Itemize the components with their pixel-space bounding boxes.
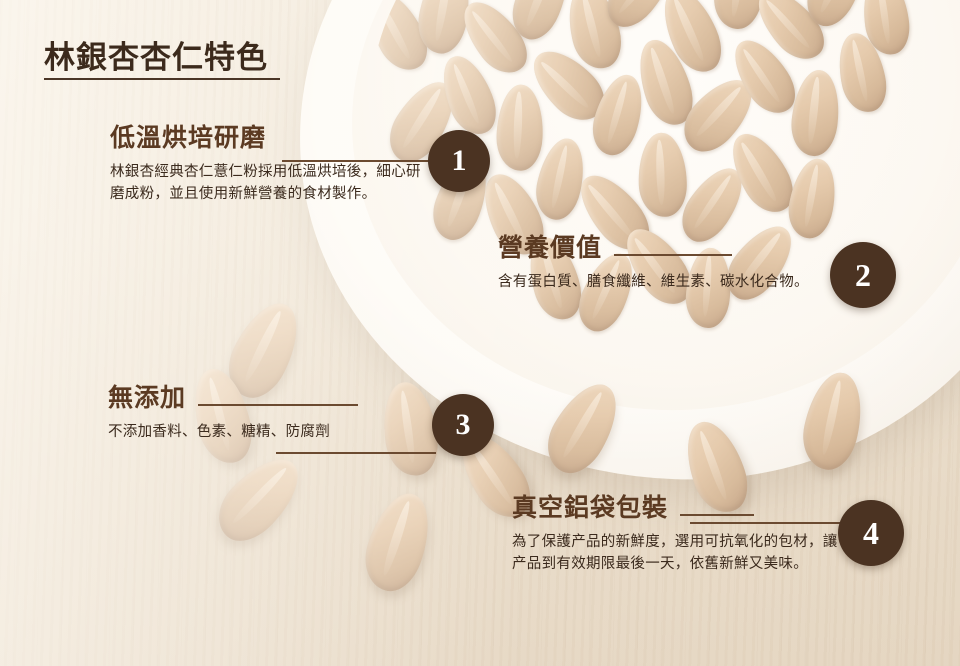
feature-4-heading: 真空鋁袋包裝 bbox=[512, 488, 852, 524]
feature-number-badge-3: 3 bbox=[432, 394, 494, 456]
feature-3-body: 不添加香料、色素、糖精、防腐劑 bbox=[108, 421, 438, 443]
infographic-page: 林銀杏杏仁特色 低溫烘培研磨 林銀杏經典杏仁薏仁粉採用低溫烘培後，細心研磨成粉，… bbox=[0, 0, 960, 666]
feature-number-badge-4: 4 bbox=[838, 500, 904, 566]
connector-line-3 bbox=[276, 452, 436, 454]
page-title: 林銀杏杏仁特色 bbox=[44, 32, 268, 84]
feature-2-body: 含有蛋白質、膳食纖維、維生素、碳水化合物。 bbox=[498, 271, 828, 293]
feature-2-rule bbox=[614, 254, 732, 256]
feature-4-title: 真空鋁袋包裝 bbox=[512, 488, 668, 524]
feature-2-title: 營養價值 bbox=[498, 228, 602, 264]
content-layer: 林銀杏杏仁特色 低溫烘培研磨 林銀杏經典杏仁薏仁粉採用低溫烘培後，細心研磨成粉，… bbox=[0, 0, 960, 666]
feature-block-3: 無添加 不添加香料、色素、糖精、防腐劑 bbox=[108, 378, 438, 443]
title-underline bbox=[44, 78, 280, 80]
feature-number-badge-2: 2 bbox=[830, 242, 896, 308]
feature-4-body: 為了保護产品的新鮮度，選用可抗氧化的包材，讓产品到有效期限最後一天，依舊新鮮又美… bbox=[512, 531, 852, 576]
feature-1-title: 低溫烘培研磨 bbox=[110, 118, 266, 154]
feature-2-heading: 營養價值 bbox=[498, 228, 828, 264]
feature-3-rule bbox=[198, 404, 358, 406]
feature-block-2: 營養價值 含有蛋白質、膳食纖維、維生素、碳水化合物。 bbox=[498, 228, 828, 293]
feature-block-1: 低溫烘培研磨 林銀杏經典杏仁薏仁粉採用低溫烘培後，細心研磨成粉，並且使用新鮮營養… bbox=[110, 118, 430, 206]
feature-3-heading: 無添加 bbox=[108, 378, 438, 414]
feature-1-body: 林銀杏經典杏仁薏仁粉採用低溫烘培後，細心研磨成粉，並且使用新鮮營養的食材製作。 bbox=[110, 161, 430, 206]
feature-block-4: 真空鋁袋包裝 為了保護产品的新鮮度，選用可抗氧化的包材，讓产品到有效期限最後一天… bbox=[512, 488, 852, 576]
feature-number-badge-1: 1 bbox=[428, 130, 490, 192]
feature-4-rule bbox=[680, 514, 754, 516]
feature-3-title: 無添加 bbox=[108, 378, 186, 414]
feature-1-heading: 低溫烘培研磨 bbox=[110, 118, 430, 154]
